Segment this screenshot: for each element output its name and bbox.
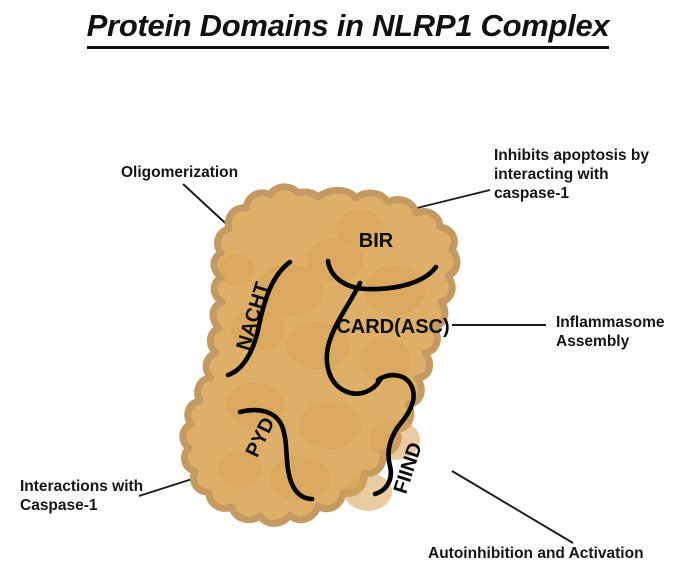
domain-label-bir: BIR [359,230,394,252]
leader-line-autoinhibition [452,471,573,543]
callout-autoinhibition-activation: Autoinhibition and Activation [428,544,644,563]
protein-complex-blob: NACHT BIR CARD(ASC) PYD FIIND [183,187,457,524]
leader-line-inhibits [417,190,490,208]
domain-label-card: CARD(ASC) [336,316,449,338]
callout-inhibits-apoptosis: Inhibits apoptosis by interacting with c… [494,146,649,203]
callout-interactions-caspase1: Interactions with Caspase-1 [20,477,143,515]
callout-oligomerization: Oligomerization [121,163,238,182]
figure-canvas: Protein Domains in NLRP1 Complex [0,0,696,573]
callout-inflammasome-assembly: Inflammasome Assembly [556,313,665,351]
